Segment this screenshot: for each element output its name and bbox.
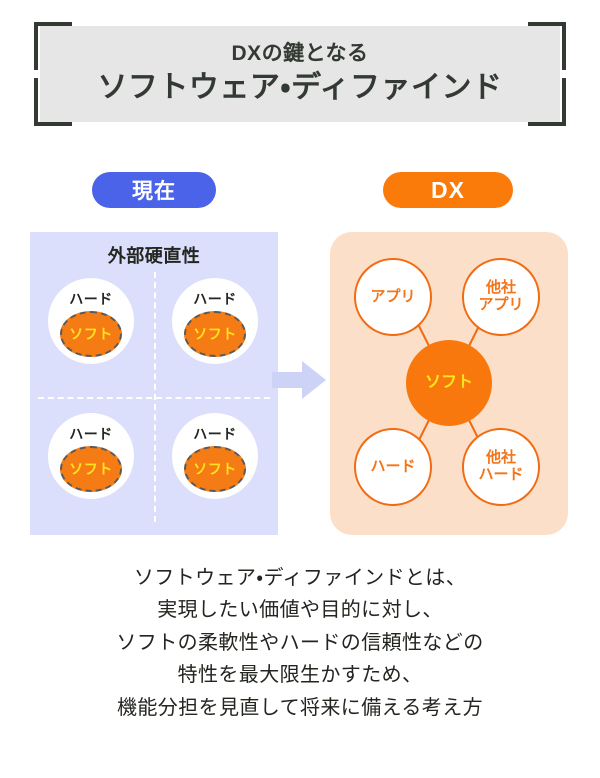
soft-blob: ソフト xyxy=(60,446,122,492)
title-subheading: DXの鍵となる xyxy=(231,42,368,66)
node-other-hardware: 他社 ハード xyxy=(462,428,540,506)
label-current: 現在 xyxy=(92,172,216,208)
node-other-app-line2: アプリ xyxy=(478,296,523,313)
node-other-app-line1: 他社 xyxy=(486,279,516,296)
hard-label: ハード xyxy=(172,424,258,444)
caption-line-5: 機能分担を見直して将来に備える考え方 xyxy=(0,692,600,724)
title-banner: DXの鍵となる ソフトウェア・ディファインド xyxy=(34,22,566,126)
current-state-title: 外部硬直性 xyxy=(30,242,278,268)
hard-soft-cell: ハード ソフト xyxy=(172,413,258,499)
node-other-hardware-line1: 他社 xyxy=(486,449,516,466)
title-banner-box: DXの鍵となる ソフトウェア・ディファインド xyxy=(40,26,560,122)
transition-arrow-icon xyxy=(272,358,326,402)
node-app: アプリ xyxy=(354,258,432,336)
caption-block: ソフトウェア・ディファインドとは、 実現したい価値や目的に対し、 ソフトの柔軟性… xyxy=(0,562,600,724)
hard-soft-cell: ハード ソフト xyxy=(48,278,134,364)
hard-label: ハード xyxy=(172,289,258,309)
node-software-core-label: ソフト xyxy=(425,374,473,392)
soft-blob: ソフト xyxy=(184,311,246,357)
bracket-bottom-left-icon xyxy=(34,78,72,126)
bracket-top-right-icon xyxy=(528,22,566,70)
hard-soft-cell: ハード ソフト xyxy=(48,413,134,499)
caption-line-4: 特性を最大限生かすため、 xyxy=(0,659,600,691)
node-software-core: ソフト xyxy=(406,340,492,426)
bracket-top-left-icon xyxy=(34,22,72,70)
node-other-hardware-label: 他社 ハード xyxy=(478,450,523,484)
current-state-panel: 外部硬直性 ハード ソフト ハード ソフト ハード ソフト ハード ソフト xyxy=(30,232,278,535)
grid-divider-horizontal xyxy=(38,397,270,399)
node-hardware: ハード xyxy=(354,428,432,506)
node-other-app: 他社 アプリ xyxy=(462,258,540,336)
soft-blob: ソフト xyxy=(60,311,122,357)
bracket-bottom-right-icon xyxy=(528,78,566,126)
node-other-hardware-line2: ハード xyxy=(478,466,523,483)
dx-state-panel: アプリ 他社 アプリ ソフト ハード 他社 ハード xyxy=(330,232,568,535)
hard-soft-cell: ハード ソフト xyxy=(172,278,258,364)
caption-line-2: 実現したい価値や目的に対し、 xyxy=(0,594,600,626)
soft-blob: ソフト xyxy=(184,446,246,492)
label-dx: DX xyxy=(383,172,513,208)
node-hardware-label: ハード xyxy=(370,459,415,476)
caption-line-1: ソフトウェア・ディファインドとは、 xyxy=(0,562,600,594)
title-heading: ソフトウェア・ディファインド xyxy=(97,70,502,106)
node-other-app-label: 他社 アプリ xyxy=(478,280,523,314)
node-app-label: アプリ xyxy=(370,289,415,306)
hard-label: ハード xyxy=(48,289,134,309)
caption-line-3: ソフトの柔軟性やハードの信頼性などの xyxy=(0,627,600,659)
hard-label: ハード xyxy=(48,424,134,444)
